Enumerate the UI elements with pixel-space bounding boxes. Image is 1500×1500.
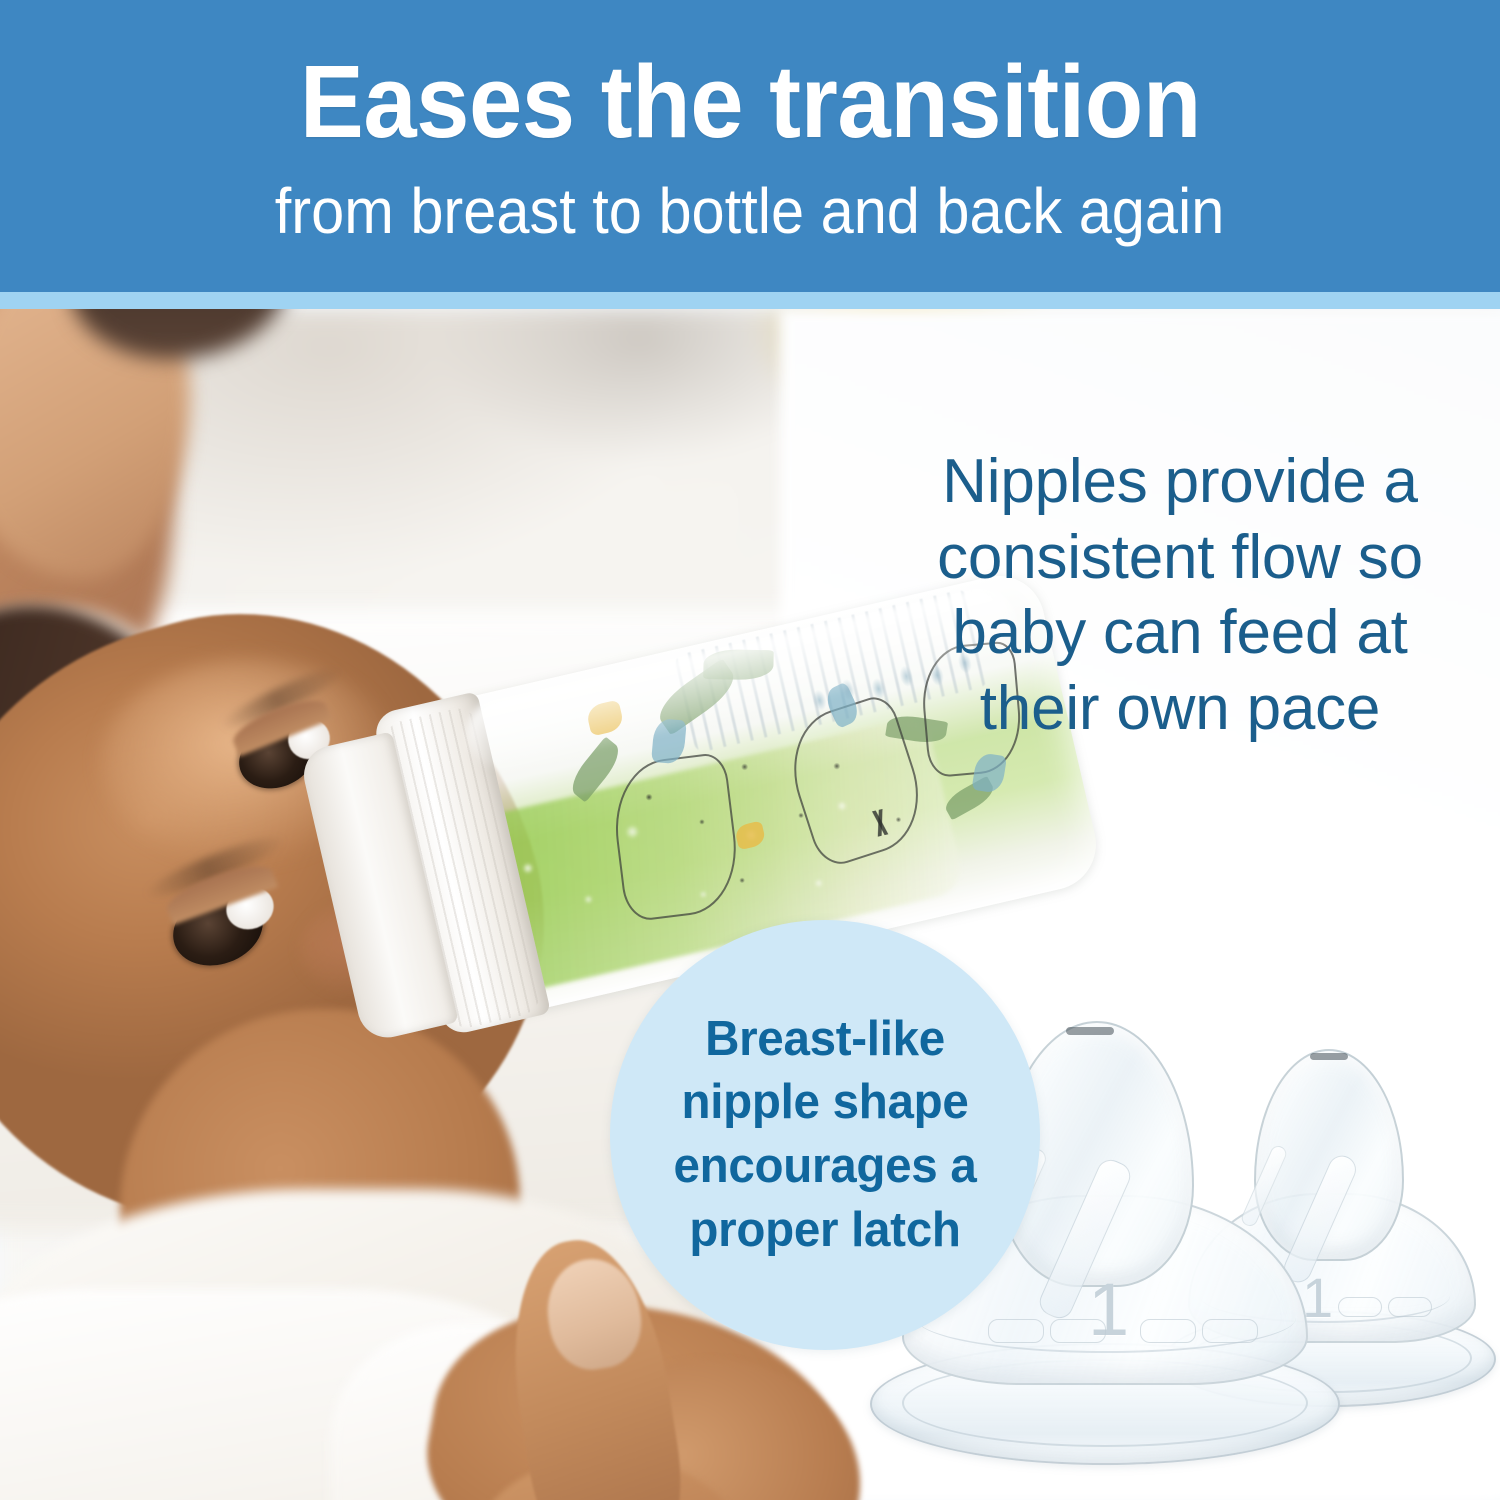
callout-badge: Breast-like nipple shape encourages a pr… [610, 920, 1040, 1350]
banner-accent-strip [0, 292, 1500, 309]
header-banner: Eases the transition from breast to bott… [0, 0, 1500, 292]
feature-copy-line: their own pace [880, 671, 1480, 747]
banner-subtitle: from breast to bottle and back again [275, 179, 1225, 243]
feature-copy-line: Nipples provide a [880, 444, 1480, 520]
callout-text: Breast-like nipple shape encourages a pr… [650, 1008, 999, 1263]
feature-copy: Nipples provide a consistent flow so bab… [880, 444, 1480, 747]
nipple-front-arc [916, 1283, 1296, 1353]
nipple-front-slit [1066, 1027, 1114, 1035]
banner-headline: Eases the transition [300, 50, 1201, 153]
product-feature-image: Eases the transition from breast to bott… [0, 0, 1500, 1500]
feature-copy-line: baby can feed at [880, 595, 1480, 671]
feature-copy-line: consistent flow so [880, 520, 1480, 596]
lifestyle-photo: 1 1 Nipples provide a consistent flow so [0, 309, 1500, 1500]
